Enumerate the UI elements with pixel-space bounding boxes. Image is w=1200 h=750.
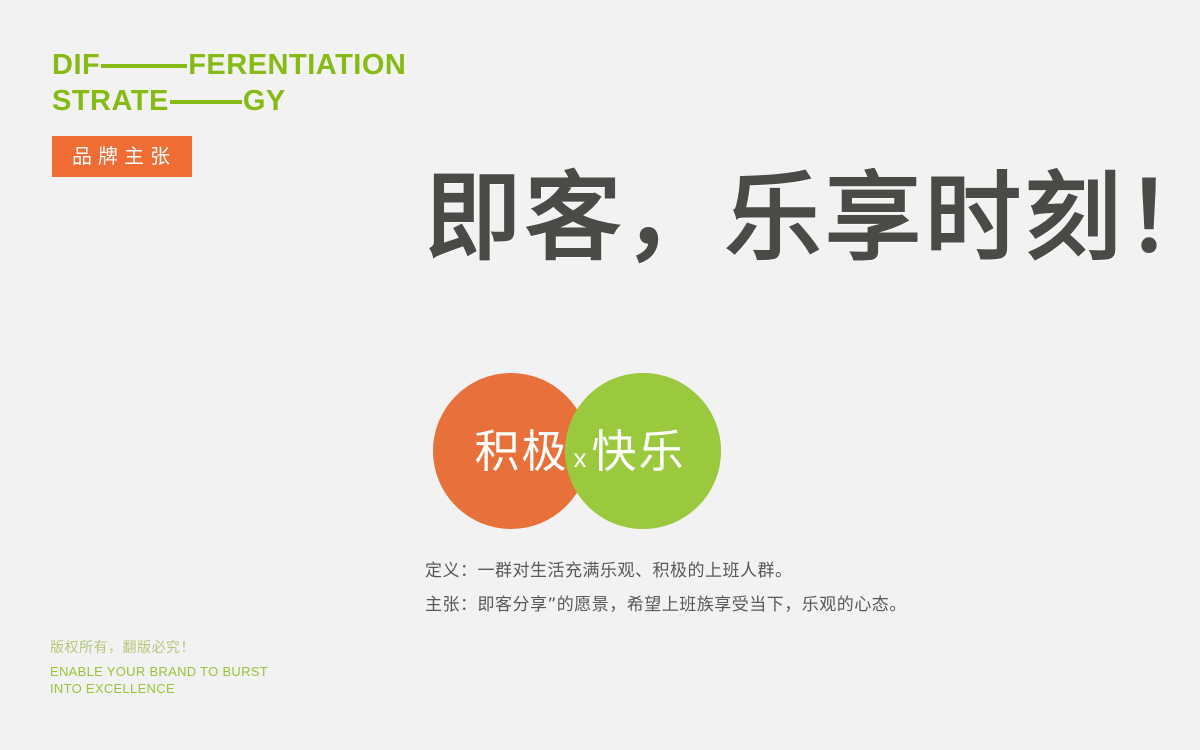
body-line-proposition: 主张：即客分享”的愿景，希望上班族享受当下，乐观的心态。	[425, 588, 1065, 622]
venn-label-group: 积极 x 快乐	[425, 365, 735, 537]
venn-operator-symbol: x	[569, 445, 592, 471]
kicker-text-strate: STRATE	[52, 84, 169, 118]
kicker-line-differentiation: DIF FERENTIATION	[52, 48, 472, 82]
kicker-rule-icon	[101, 64, 187, 68]
venn-label-positive: 积极	[474, 429, 568, 474]
page-title: 即客，乐享时刻！	[425, 158, 1125, 278]
venn-label-happy: 快乐	[592, 429, 686, 474]
footer-tagline-line-2: INTO EXCELLENCE	[50, 680, 390, 697]
kicker-text-dif: DIF	[52, 48, 100, 82]
footer-tagline-line-1: ENABLE YOUR BRAND TO BURST	[50, 663, 390, 680]
kicker-line-strategy: STRATE GY	[52, 84, 472, 118]
kicker-rule-icon	[170, 100, 242, 104]
footer-copyright-cn: 版权所有，翻版必究！	[50, 638, 390, 658]
kicker-text-ferentiation: FERENTIATION	[188, 48, 406, 82]
slide-canvas: DIF FERENTIATION STRATE GY 品牌主张 即客，乐享时刻！…	[0, 0, 1200, 750]
footer: 版权所有，翻版必究！ ENABLE YOUR BRAND TO BURST IN…	[50, 638, 390, 697]
header-block: DIF FERENTIATION STRATE GY 品牌主张	[52, 48, 472, 177]
body-copy: 定义：一群对生活充满乐观、积极的上班人群。 主张：即客分享”的愿景，希望上班族享…	[425, 554, 1065, 622]
venn-diagram: 积极 x 快乐	[425, 365, 735, 535]
body-line-definition: 定义：一群对生活充满乐观、积极的上班人群。	[425, 554, 1065, 588]
kicker-text-gy: GY	[243, 84, 286, 118]
brand-proposition-badge: 品牌主张	[52, 136, 192, 177]
